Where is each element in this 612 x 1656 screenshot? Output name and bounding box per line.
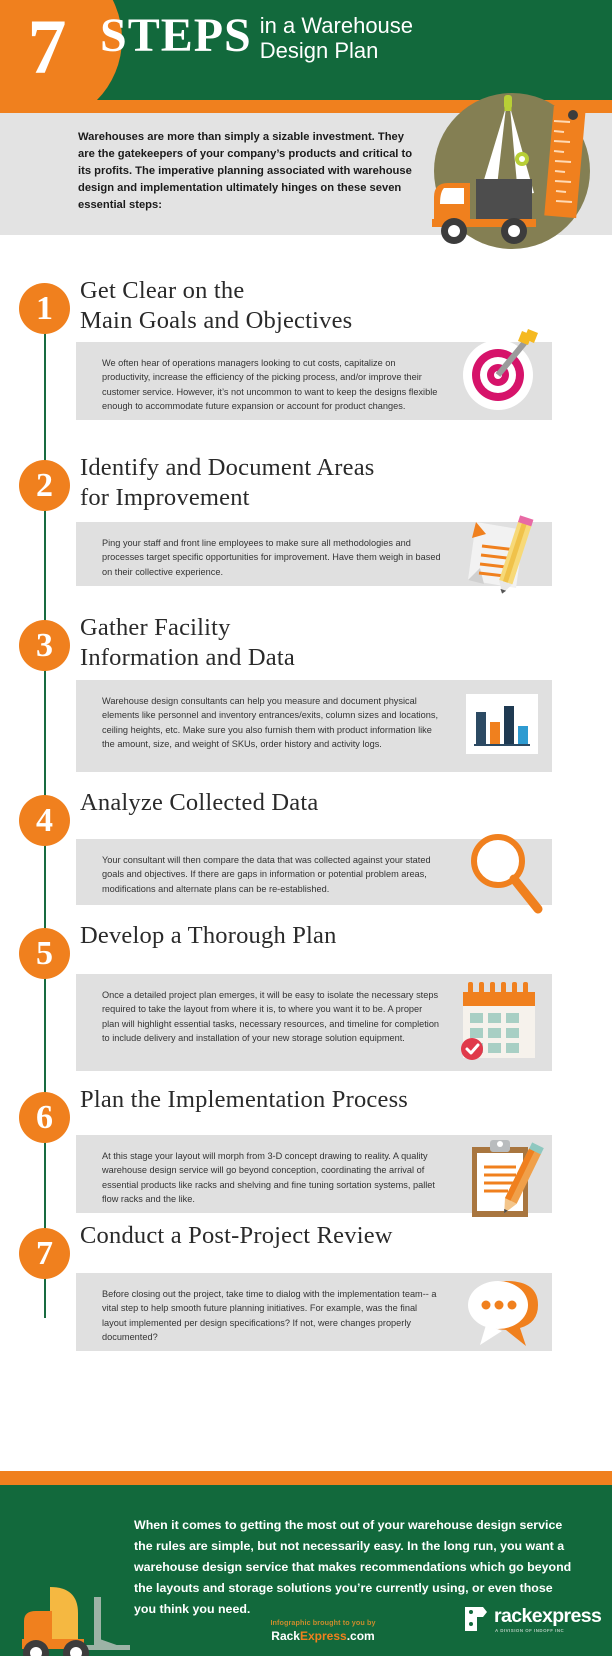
footer-orange-strip — [0, 1471, 612, 1485]
header-title-sub: in a WarehouseDesign Plan — [252, 10, 413, 63]
header-number: 7 — [12, 4, 82, 90]
step-number-badge: 2 — [19, 460, 70, 511]
step-body: Once a detailed project plan emerges, it… — [76, 974, 552, 1071]
infographic-page: 7 STEPSin a WarehouseDesign Plan Warehou… — [0, 0, 612, 1656]
step-body: Ping your staff and front line employees… — [76, 522, 552, 586]
step-number-badge: 3 — [19, 620, 70, 671]
speech-bubble-icon — [460, 1271, 548, 1355]
step-title: Identify and Document Areas for Improvem… — [80, 453, 550, 513]
credit-brand-express: Express — [300, 1629, 347, 1643]
header-title-sub-line2: Design Plan — [260, 38, 379, 63]
page-title: STEPSin a WarehouseDesign Plan — [100, 10, 600, 63]
step-body: Your consultant will then compare the da… — [76, 839, 552, 905]
logo-word-rack: rack — [494, 1605, 532, 1627]
step-body: We often hear of operations managers loo… — [76, 342, 552, 420]
clipboard-pencil-icon — [464, 1137, 544, 1221]
rackexpress-logo[interactable]: rackexpress A DIVISION OF INDOFF INC — [462, 1604, 602, 1640]
rackexpress-logo-text: rackexpress — [494, 1606, 601, 1627]
header-title-main: STEPS — [100, 9, 252, 62]
rackexpress-logo-tagline: A DIVISION OF INDOFF INC — [495, 1628, 564, 1633]
intro-section: Warehouses are more than simply a sizabl… — [0, 113, 612, 235]
forklift-illustration — [10, 1577, 180, 1656]
step-title: Analyze Collected Data — [80, 788, 550, 818]
logo-word-express: express — [532, 1605, 602, 1627]
step-number-badge: 7 — [19, 1228, 70, 1279]
step-title: Gather Facility Information and Data — [80, 613, 550, 673]
magnifying-glass-icon — [456, 823, 552, 919]
step-body: Before closing out the project, take tim… — [76, 1273, 552, 1351]
step-title: Conduct a Post-Project Review — [80, 1221, 550, 1251]
intro-text: Warehouses are more than simply a sizabl… — [78, 129, 418, 214]
step-number-badge: 4 — [19, 795, 70, 846]
credit-brand-dotcom: .com — [347, 1629, 375, 1643]
bar-chart-icon — [466, 694, 538, 754]
credit-prefix: Infographic brought to you by — [228, 1618, 418, 1627]
step-body: At this stage your layout will morph fro… — [76, 1135, 552, 1213]
credit-block: Infographic brought to you by RackExpres… — [228, 1618, 418, 1643]
target-dartboard-arrow-icon — [450, 323, 546, 419]
step-body: Warehouse design consultants can help yo… — [76, 680, 552, 772]
credit-brand-rack: Rack — [271, 1629, 300, 1643]
warehouse-truck-compass-ruler-illustration — [410, 75, 612, 265]
header-title-sub-line1: in a Warehouse — [260, 13, 413, 38]
step-title: Develop a Thorough Plan — [80, 921, 550, 951]
step-title: Plan the Implementation Process — [80, 1085, 550, 1115]
step-number-badge: 1 — [19, 283, 70, 334]
calendar-checkmark-icon — [458, 980, 542, 1064]
credit-brand[interactable]: RackExpress.com — [228, 1629, 418, 1643]
step-number-badge: 6 — [19, 1092, 70, 1143]
rackexpress-logo-mark-icon — [462, 1604, 492, 1634]
pencil-notepad-icon — [450, 510, 546, 606]
step-number-badge: 5 — [19, 928, 70, 979]
